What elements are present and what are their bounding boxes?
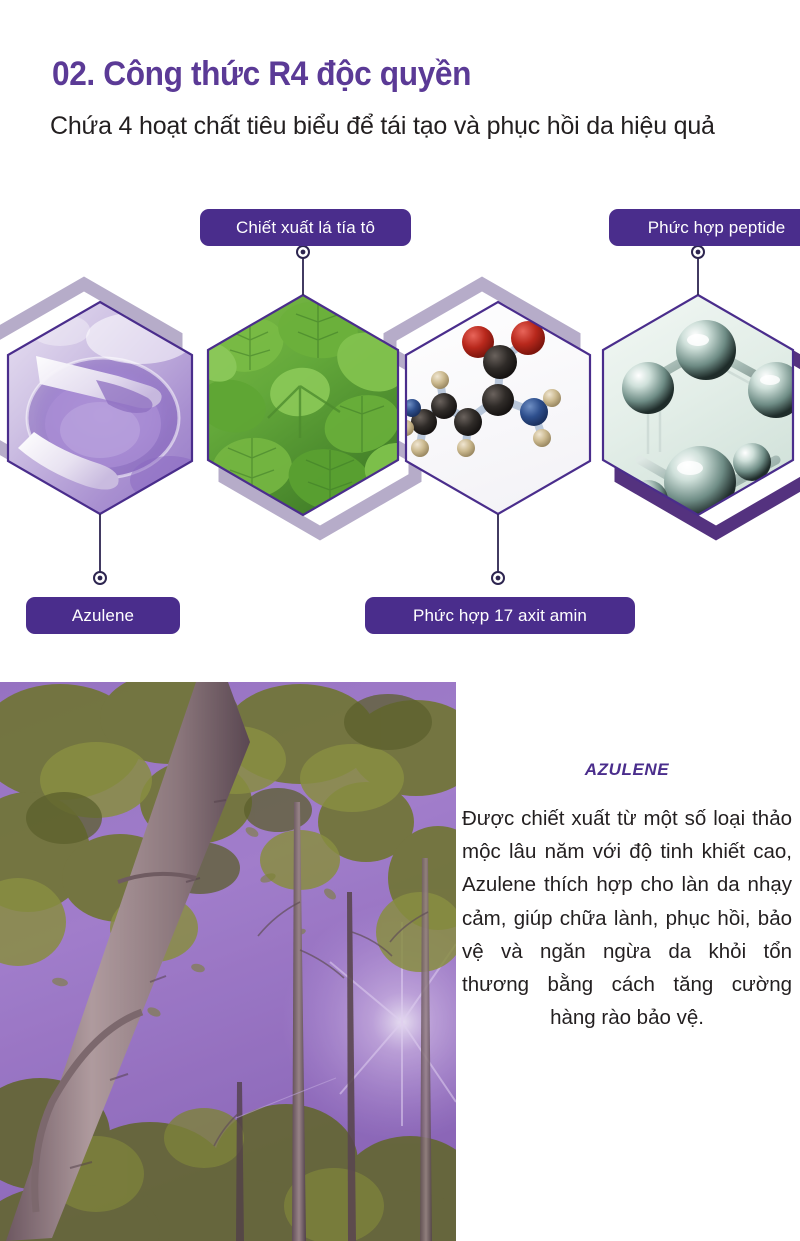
ingredient-label-peptide[interactable]: Phức hợp peptide bbox=[609, 209, 800, 246]
atom-hydrogen bbox=[533, 429, 551, 447]
azulene-description: Được chiết xuất từ một số loại thảo mộc … bbox=[462, 802, 792, 1034]
atom-hydrogen bbox=[457, 439, 475, 457]
atom-nitrogen bbox=[520, 398, 548, 426]
forest-photo bbox=[0, 682, 456, 1241]
atom-hydrogen bbox=[431, 371, 449, 389]
atom-carbon bbox=[482, 384, 514, 416]
ingredient-label-perilla[interactable]: Chiết xuất lá tía tô bbox=[200, 209, 411, 246]
ingredient-label-azulene[interactable]: Azulene bbox=[26, 597, 180, 634]
ingredient-hexagon-band bbox=[0, 180, 800, 660]
hex-image-azulene bbox=[0, 290, 210, 530]
azulene-title: AZULENE bbox=[462, 760, 792, 780]
atom-sphere bbox=[622, 362, 674, 414]
atom-carbon bbox=[454, 408, 482, 436]
atom-carbon bbox=[483, 345, 517, 379]
page-subtitle: Chứa 4 hoạt chất tiêu biểu để tái tạo và… bbox=[50, 112, 715, 141]
page-title: 02. Công thức R4 độc quyền bbox=[52, 55, 471, 94]
ingredient-label-amino-acid[interactable]: Phức hợp 17 axit amin bbox=[365, 597, 635, 634]
azulene-detail: AZULENE Được chiết xuất từ một số loại t… bbox=[462, 760, 792, 1034]
atom-sphere bbox=[676, 320, 736, 380]
atom-hydrogen bbox=[411, 439, 429, 457]
atom-hydrogen bbox=[543, 389, 561, 407]
